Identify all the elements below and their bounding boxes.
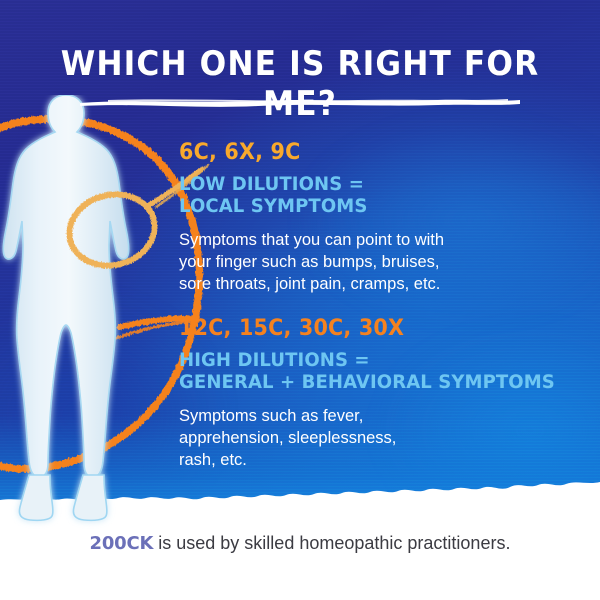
footer-highlight: 200CK [90, 533, 154, 554]
section-low-dilutions: 6C, 6X, 9C LOW DILUTIONS = LOCAL SYMPTOM… [179, 140, 444, 295]
body-2-line-3: rash, etc. [179, 449, 575, 471]
body-1-line-2: your finger such as bumps, bruises, [179, 251, 444, 273]
dose-heading-2: 12C, 15C, 30C, 30X [179, 316, 551, 341]
body-2-line-2: apprehension, sleeplessness, [179, 427, 575, 449]
title-underline-brush [78, 98, 522, 107]
body-1-line-3: sore throats, joint pain, cramps, etc. [179, 273, 444, 295]
footer-rest: is used by skilled homeopathic practitio… [153, 533, 510, 553]
footer-note: 200CK is used by skilled homeopathic pra… [0, 533, 600, 554]
page-title: WHICH ONE IS RIGHT FOR ME? [24, 44, 576, 124]
section-high-dilutions: 12C, 15C, 30C, 30X HIGH DILUTIONS = GENE… [179, 316, 575, 471]
dose-heading-1: 6C, 6X, 9C [179, 140, 428, 165]
subheading-2-line-1: HIGH DILUTIONS = [179, 349, 555, 371]
body-1-line-1: Symptoms that you can point to with [179, 229, 444, 251]
body-2-line-1: Symptoms such as fever, [179, 405, 575, 427]
infographic-poster: WHICH ONE IS RIGHT FOR ME? 6C, 6X, 9C LO… [0, 0, 600, 600]
human-body-silhouette [3, 95, 129, 520]
subheading-1-line-1: LOW DILUTIONS = [179, 173, 431, 195]
subheading-2-line-2: GENERAL + BEHAVIORAL SYMPTOMS [179, 371, 555, 393]
subheading-1-line-2: LOCAL SYMPTOMS [179, 195, 431, 217]
